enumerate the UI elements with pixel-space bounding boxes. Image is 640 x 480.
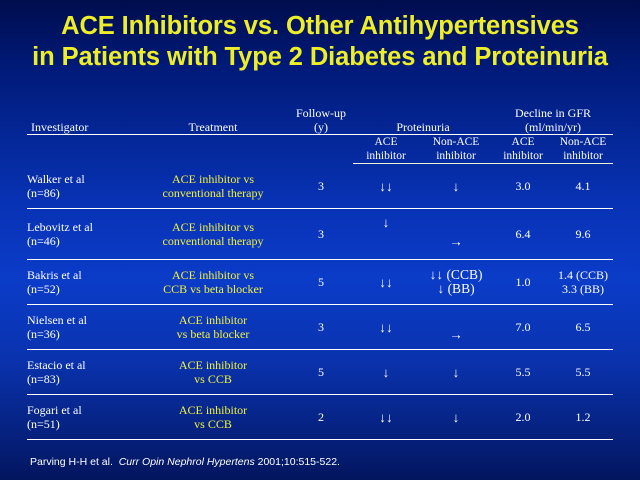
cell-investigator: Bakris et al (n=52) xyxy=(27,260,137,305)
cell-treatment: ACE inhibitor vs conventional therapy xyxy=(137,164,289,209)
cell-followup: 5 xyxy=(289,260,353,305)
cell-gfr-nonace: 9.6 xyxy=(553,209,613,260)
treatment-line-1: ACE inhibitor xyxy=(137,403,289,417)
cell-proteinuria-ace: ↓↓ xyxy=(353,305,419,350)
cell-investigator: Walker et al (n=86) xyxy=(27,164,137,209)
cell-proteinuria-nonace: → xyxy=(419,209,493,260)
investigator-name: Estacio et al xyxy=(27,358,137,372)
subheader-gfr-nonace-line-2: inhibitor xyxy=(553,149,613,163)
slide-canvas: ACE Inhibitors vs. Other Antihypertensiv… xyxy=(0,0,640,480)
header-treatment: Treatment xyxy=(137,106,289,135)
cell-followup: 3 xyxy=(289,209,353,260)
cell-investigator: Lebovitz et al (n=46) xyxy=(27,209,137,260)
subheader-gfr-ace-line-1: ACE xyxy=(493,135,553,149)
treatment-line-1: ACE inhibitor xyxy=(137,313,289,327)
cell-gfr-ace: 5.5 xyxy=(493,350,553,395)
table-row: Bakris et al (n=52) ACE inhibitor vs CCB… xyxy=(27,260,613,305)
header-gfr: Decline in GFR (ml/min/yr) xyxy=(493,106,613,135)
treatment-line-2: vs beta blocker xyxy=(137,327,289,341)
treatment-line-1: ACE inhibitor vs xyxy=(137,220,289,234)
comparison-table: Investigator Treatment Follow-up (y) Pro… xyxy=(27,106,613,440)
cell-followup: 5 xyxy=(289,350,353,395)
subheader-spacer-treatment xyxy=(137,135,289,164)
cell-followup: 2 xyxy=(289,395,353,440)
table-header-row-subcolumns: ACE inhibitor Non-ACE inhibitor ACE inhi… xyxy=(27,135,613,164)
cell-proteinuria-nonace: ↓ xyxy=(419,164,493,209)
subheader-proteinuria-ace-line-1: ACE xyxy=(353,135,419,149)
header-gfr-line-2: (ml/min/yr) xyxy=(493,120,613,134)
investigator-name: Lebovitz et al xyxy=(27,220,137,234)
cell-proteinuria-nonace: ↓ xyxy=(419,395,493,440)
treatment-line-1: ACE inhibitor vs xyxy=(137,172,289,186)
subheader-spacer-investigator xyxy=(27,135,137,164)
investigator-sample-size: (n=46) xyxy=(27,234,137,248)
cell-gfr-nonace: 4.1 xyxy=(553,164,613,209)
cell-treatment: ACE inhibitor vs CCB xyxy=(137,350,289,395)
header-followup-line-1: Follow-up xyxy=(289,106,353,120)
investigator-sample-size: (n=36) xyxy=(27,327,137,341)
cell-proteinuria-ace: ↓ xyxy=(353,350,419,395)
cell-investigator: Nielsen et al (n=36) xyxy=(27,305,137,350)
cell-gfr-ace: 1.0 xyxy=(493,260,553,305)
treatment-line-2: vs CCB xyxy=(137,417,289,431)
cell-treatment: ACE inhibitor vs beta blocker xyxy=(137,305,289,350)
treatment-line-2: conventional therapy xyxy=(137,186,289,200)
cell-proteinuria-nonace: ↓ xyxy=(419,350,493,395)
cell-gfr-ace: 6.4 xyxy=(493,209,553,260)
subheader-proteinuria-ace: ACE inhibitor xyxy=(353,135,419,164)
cell-investigator: Fogari et al (n=51) xyxy=(27,395,137,440)
table-header-row-groups: Investigator Treatment Follow-up (y) Pro… xyxy=(27,106,613,135)
cell-proteinuria-ace: ↓↓ xyxy=(353,164,419,209)
subheader-proteinuria-nonace-line-1: Non-ACE xyxy=(419,135,493,149)
subheader-gfr-nonace-line-1: Non-ACE xyxy=(553,135,613,149)
cell-investigator: Estacio et al (n=83) xyxy=(27,350,137,395)
cell-proteinuria-nonace: → xyxy=(419,305,493,350)
treatment-line-1: ACE inhibitor vs xyxy=(137,268,289,282)
cell-treatment: ACE inhibitor vs CCB vs beta blocker xyxy=(137,260,289,305)
cell-followup: 3 xyxy=(289,164,353,209)
slide-title-line-1: ACE Inhibitors vs. Other Antihypertensiv… xyxy=(0,11,640,42)
investigator-sample-size: (n=86) xyxy=(27,186,137,200)
subheader-gfr-ace-line-2: inhibitor xyxy=(493,149,553,163)
subheader-gfr-ace: ACE inhibitor xyxy=(493,135,553,164)
investigator-sample-size: (n=52) xyxy=(27,282,137,296)
treatment-line-2: CCB vs beta blocker xyxy=(137,282,289,296)
proteinuria-nonace-line-2: ↓ (BB) xyxy=(419,282,493,296)
investigator-sample-size: (n=51) xyxy=(27,417,137,431)
investigator-name: Walker et al xyxy=(27,172,137,186)
citation-footer: Parving H-H et al. Curr Opin Nephrol Hyp… xyxy=(30,456,340,468)
investigator-name: Bakris et al xyxy=(27,268,137,282)
cell-treatment: ACE inhibitor vs CCB xyxy=(137,395,289,440)
gfr-nonace-line-2: 3.3 (BB) xyxy=(553,282,613,296)
treatment-line-1: ACE inhibitor xyxy=(137,358,289,372)
proteinuria-nonace-arrow: → xyxy=(449,327,463,342)
subheader-proteinuria-nonace: Non-ACE inhibitor xyxy=(419,135,493,164)
cell-gfr-nonace: 1.4 (CCB) 3.3 (BB) xyxy=(553,260,613,305)
subheader-proteinuria-nonace-line-2: inhibitor xyxy=(419,149,493,163)
proteinuria-nonace-arrow: → xyxy=(449,234,463,249)
header-followup-line-2: (y) xyxy=(289,120,353,134)
cell-gfr-nonace: 1.2 xyxy=(553,395,613,440)
table-row: Nielsen et al (n=36) ACE inhibitor vs be… xyxy=(27,305,613,350)
investigator-name: Fogari et al xyxy=(27,403,137,417)
cell-proteinuria-ace: ↓ xyxy=(353,209,419,260)
cell-gfr-ace: 3.0 xyxy=(493,164,553,209)
header-proteinuria: Proteinuria xyxy=(353,106,493,135)
cell-gfr-nonace: 6.5 xyxy=(553,305,613,350)
cell-proteinuria-ace: ↓↓ xyxy=(353,395,419,440)
proteinuria-nonace-line-1: ↓↓ (CCB) xyxy=(419,268,493,282)
header-investigator: Investigator xyxy=(27,106,137,135)
table-row: Lebovitz et al (n=46) ACE inhibitor vs c… xyxy=(27,209,613,260)
citation-details: 2001;10:515-522. xyxy=(258,456,340,468)
subheader-gfr-nonace: Non-ACE inhibitor xyxy=(553,135,613,164)
slide-title: ACE Inhibitors vs. Other Antihypertensiv… xyxy=(0,11,640,73)
slide-title-line-2: in Patients with Type 2 Diabetes and Pro… xyxy=(0,42,640,73)
investigator-name: Nielsen et al xyxy=(27,313,137,327)
cell-followup: 3 xyxy=(289,305,353,350)
table-row: Fogari et al (n=51) ACE inhibitor vs CCB… xyxy=(27,395,613,440)
subheader-proteinuria-ace-line-2: inhibitor xyxy=(353,149,419,163)
table-row: Estacio et al (n=83) ACE inhibitor vs CC… xyxy=(27,350,613,395)
cell-gfr-ace: 7.0 xyxy=(493,305,553,350)
cell-proteinuria-ace: ↓↓ xyxy=(353,260,419,305)
table-row: Walker et al (n=86) ACE inhibitor vs con… xyxy=(27,164,613,209)
cell-proteinuria-nonace: ↓↓ (CCB) ↓ (BB) xyxy=(419,260,493,305)
citation-journal: Curr Opin Nephrol Hypertens xyxy=(119,456,255,468)
treatment-line-2: conventional therapy xyxy=(137,234,289,248)
cell-gfr-ace: 2.0 xyxy=(493,395,553,440)
citation-authors: Parving H-H et al. xyxy=(30,456,113,468)
cell-treatment: ACE inhibitor vs conventional therapy xyxy=(137,209,289,260)
subheader-spacer-followup xyxy=(289,135,353,164)
header-followup: Follow-up (y) xyxy=(289,106,353,135)
treatment-line-2: vs CCB xyxy=(137,372,289,386)
header-gfr-line-1: Decline in GFR xyxy=(493,106,613,120)
cell-gfr-nonace: 5.5 xyxy=(553,350,613,395)
gfr-nonace-line-1: 1.4 (CCB) xyxy=(553,268,613,282)
investigator-sample-size: (n=83) xyxy=(27,372,137,386)
